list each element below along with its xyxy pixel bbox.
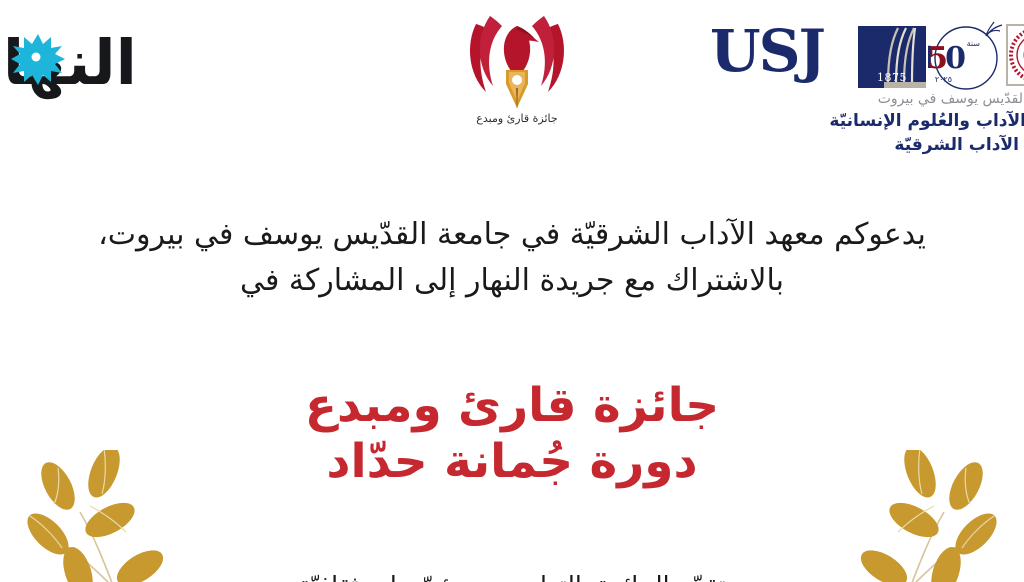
poster-canvas: النهار bbox=[0, 0, 1024, 582]
sunburst-icon bbox=[10, 32, 66, 88]
usj-line-institute: معهد الآداب الشرقيّة bbox=[706, 133, 1024, 157]
svg-text:سنة: سنة bbox=[967, 39, 981, 48]
usj-line-faculty: كلّية الآداب والعُلوم الإنسانيّة bbox=[706, 109, 1024, 133]
laurel-branch-icon bbox=[816, 450, 1006, 582]
usj-logo-row: USJ 1875 1 5 0 bbox=[706, 14, 1024, 92]
invitation-line-1: يدعوكم معهد الآداب الشرقيّة في جامعة الق… bbox=[0, 212, 1024, 258]
award-logo-caption: جائزة قارئ ومبدع bbox=[452, 112, 582, 125]
svg-text:٢٠٢٥: ٢٠٢٥ bbox=[935, 75, 952, 84]
usj-institution-lines: جامعة القدّيس يوسف في بيروت كلّية الآداب… bbox=[706, 90, 1024, 157]
red-circular-seal-icon bbox=[1008, 26, 1024, 84]
usj-line-university: جامعة القدّيس يوسف في بيروت bbox=[706, 90, 1024, 109]
phoenix-with-pen-nib-icon bbox=[460, 8, 574, 112]
footer-clipped-text: تقدّم الجائزة بالتعاون مع مؤسّسات ثقافيّ… bbox=[0, 568, 1024, 582]
usj-year-badge: 1875 bbox=[858, 26, 926, 88]
usj-red-seal bbox=[1006, 24, 1024, 86]
invitation-text: يدعوكم معهد الآداب الشرقيّة في جامعة الق… bbox=[0, 212, 1024, 304]
headline-line-prize: جائزة قارئ ومبدع bbox=[0, 378, 1024, 434]
usj-logo: USJ 1875 1 5 0 bbox=[706, 14, 1024, 174]
svg-text:0: 0 bbox=[945, 41, 966, 76]
award-logo: جائزة قارئ ومبدع bbox=[452, 8, 582, 138]
invitation-line-2: بالاشتراك مع جريدة النهار إلى المشاركة ف… bbox=[0, 258, 1024, 304]
footer-clipped-line: تقدّم الجائزة بالتعاون مع مؤسّسات ثقافيّ… bbox=[0, 568, 1024, 582]
logo-strip: النهار bbox=[0, 0, 1024, 180]
usj-wordmark: USJ bbox=[710, 20, 824, 82]
usj-150-anniversary-badge: 1 5 0 سنة ٢٠٢٥ bbox=[928, 20, 1004, 92]
laurel-branch-icon bbox=[18, 450, 208, 582]
an-nahar-logo: النهار bbox=[0, 18, 152, 108]
usj-founded-year: 1875 bbox=[858, 71, 926, 84]
